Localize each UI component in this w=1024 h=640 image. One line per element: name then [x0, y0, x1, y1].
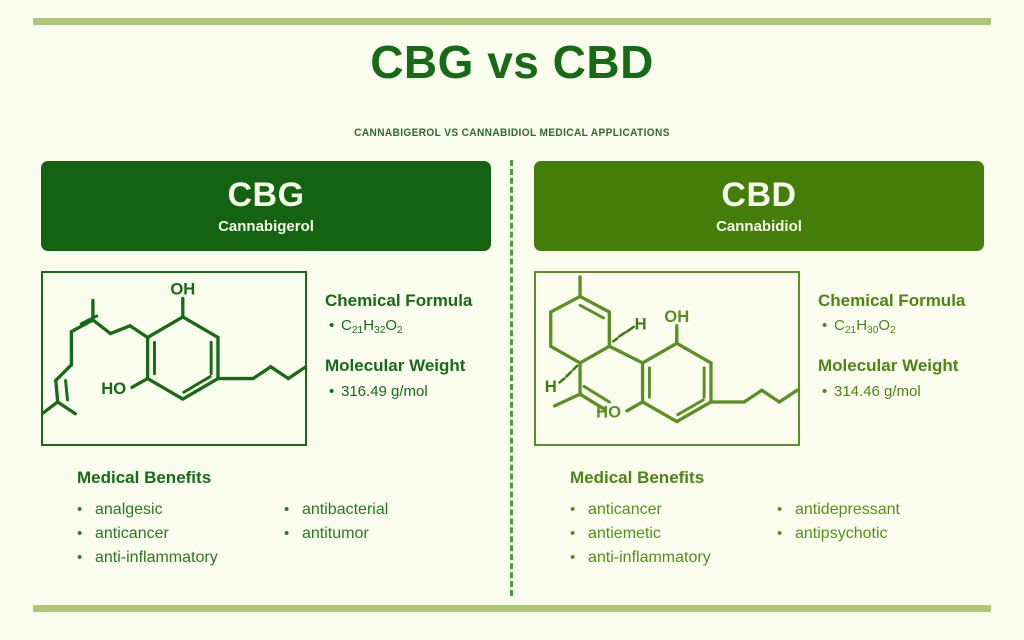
cbd-properties: Chemical Formula •C21H30O2 Molecular Wei… — [818, 271, 965, 401]
cbg-benefits-column-1: •analgesic •anticancer •anti-inflammator… — [77, 494, 284, 566]
bullet-icon: • — [284, 526, 302, 541]
bullet-icon: • — [284, 502, 302, 517]
list-item: •anticancer — [77, 526, 284, 542]
cbg-properties: Chemical Formula •C21H32O2 Molecular Wei… — [325, 271, 472, 401]
cbd-abbreviation: CBD — [721, 177, 796, 214]
bullet-icon: • — [329, 317, 341, 336]
svg-text:OH: OH — [664, 307, 689, 326]
bullet-icon: • — [570, 526, 588, 541]
cbd-weight-value: •314.46 g/mol — [822, 383, 965, 402]
cbd-molecule-diagram: H H OH HO — [534, 271, 800, 446]
card-header-cbg: CBG Cannabigerol — [41, 161, 491, 251]
cbd-benefits: Medical Benefits •anticancer •antiemetic… — [534, 468, 984, 566]
bullet-icon: • — [329, 383, 341, 402]
svg-text:HO: HO — [596, 403, 621, 422]
list-item: •anti-inflammatory — [570, 550, 777, 566]
cbd-formula-value: •C21H30O2 — [822, 317, 965, 336]
cbg-formula-label: Chemical Formula — [325, 291, 472, 311]
bottom-divider-rule — [33, 605, 991, 612]
card-header-cbd: CBD Cannabidiol — [534, 161, 984, 251]
list-item: •anticancer — [570, 502, 777, 518]
bullet-icon: • — [822, 383, 834, 402]
bullet-icon: • — [77, 526, 95, 541]
cbd-benefits-column-2: •antidepressant •antipsychotic — [777, 494, 984, 566]
list-item: •antiemetic — [570, 526, 777, 542]
cbd-weight-label: Molecular Weight — [818, 356, 965, 376]
list-item: •antidepressant — [777, 502, 984, 518]
list-item: •antitumor — [284, 526, 491, 542]
infographic-page: CBG vs CBD CANNABIGEROL VS CANNABIDIOL M… — [0, 0, 1024, 640]
cbd-structure-row: H H OH HO Chemical Formula •C21H30O2 Mol… — [534, 271, 984, 446]
svg-text:H: H — [545, 377, 557, 396]
cbd-full-name: Cannabidiol — [716, 218, 802, 235]
cbd-benefits-column-1: •anticancer •antiemetic •anti-inflammato… — [570, 494, 777, 566]
cbg-formula-value: •C21H32O2 — [329, 317, 472, 336]
cbg-benefits-heading: Medical Benefits — [77, 468, 491, 488]
cbg-full-name: Cannabigerol — [218, 218, 314, 235]
bullet-icon: • — [570, 502, 588, 517]
cbd-benefits-heading: Medical Benefits — [570, 468, 984, 488]
column-cbg: CBG Cannabigerol — [41, 161, 491, 566]
cbg-benefits-column-2: •antibacterial •antitumor — [284, 494, 491, 566]
bullet-icon: • — [77, 502, 95, 517]
cbg-abbreviation: CBG — [227, 177, 304, 214]
svg-text:OH: OH — [170, 279, 195, 298]
column-divider-dashed — [510, 160, 513, 596]
bullet-icon: • — [570, 550, 588, 565]
bullet-icon: • — [777, 502, 795, 517]
bullet-icon: • — [77, 550, 95, 565]
svg-text:H: H — [635, 315, 647, 334]
top-divider-rule — [33, 18, 991, 25]
column-cbd: CBD Cannabidiol — [534, 161, 984, 566]
list-item: •antipsychotic — [777, 526, 984, 542]
list-item: •antibacterial — [284, 502, 491, 518]
bullet-icon: • — [777, 526, 795, 541]
page-subtitle: CANNABIGEROL VS CANNABIDIOL MEDICAL APPL… — [41, 127, 983, 139]
cbg-weight-value: •316.49 g/mol — [329, 383, 472, 402]
svg-text:HO: HO — [101, 379, 126, 398]
cbg-molecule-diagram: OH HO — [41, 271, 307, 446]
bullet-icon: • — [822, 317, 834, 336]
cbd-formula-label: Chemical Formula — [818, 291, 965, 311]
cbg-benefits: Medical Benefits •analgesic •anticancer … — [41, 468, 491, 566]
cbg-structure-row: OH HO Chemical Formula •C21H32O2 Molecul… — [41, 271, 491, 446]
page-title: CBG vs CBD — [0, 38, 1024, 86]
list-item: •anti-inflammatory — [77, 550, 284, 566]
list-item: •analgesic — [77, 502, 284, 518]
cbg-weight-label: Molecular Weight — [325, 356, 472, 376]
